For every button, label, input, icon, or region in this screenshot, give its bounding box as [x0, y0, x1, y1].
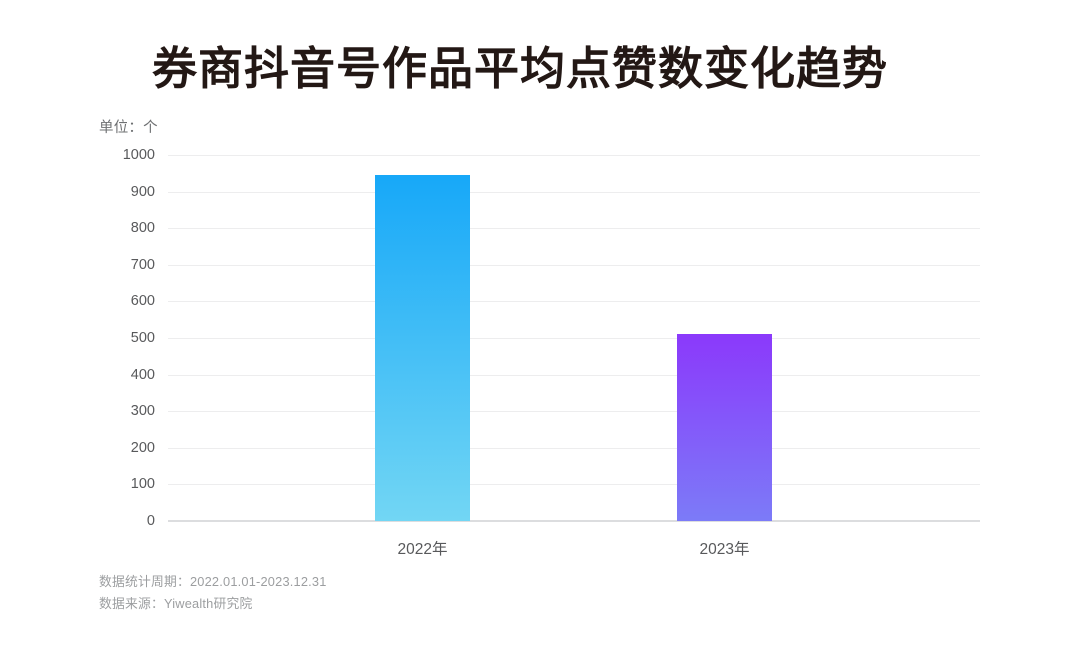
y-axis-tick-label: 600: [99, 294, 155, 309]
chart-footnotes: 数据统计周期：2022.01.01-2023.12.31 数据来源：Yiweal…: [99, 571, 327, 615]
y-axis-tick-label: 900: [99, 185, 155, 200]
footnote-period: 数据统计周期：2022.01.01-2023.12.31: [99, 571, 327, 593]
gridline: [168, 448, 980, 449]
y-axis-tick-label: 700: [99, 258, 155, 273]
gridline: [168, 192, 980, 193]
bar-2022年[interactable]: [375, 175, 470, 521]
gridline: [168, 484, 980, 485]
footnote-source: 数据来源：Yiwealth研究院: [99, 593, 327, 615]
gridline: [168, 228, 980, 229]
unit-label: 单位：个: [99, 116, 158, 137]
x-axis: 2022年2023年: [168, 521, 980, 561]
y-axis-tick-label: 400: [99, 368, 155, 383]
gridline: [168, 411, 980, 412]
gridline: [168, 155, 980, 156]
y-axis-tick-label: 100: [99, 477, 155, 492]
y-axis-tick-label: 300: [99, 404, 155, 419]
chart-card: 券商抖音号作品平均点赞数变化趋势 单位：个 100090080070060050…: [0, 0, 1081, 657]
gridline: [168, 338, 980, 339]
gridline: [168, 301, 980, 302]
y-axis-tick-label: 200: [99, 441, 155, 456]
plot-area: 10009008007006005004003002001000: [168, 155, 980, 521]
x-axis-tick-label: 2023年: [645, 537, 805, 559]
y-axis-tick-label: 0: [99, 514, 155, 529]
gridline: [168, 265, 980, 266]
y-axis-tick-label: 800: [99, 221, 155, 236]
bar-2023年[interactable]: [677, 334, 772, 521]
page-title: 券商抖音号作品平均点赞数变化趋势: [152, 42, 888, 96]
gridline: [168, 375, 980, 376]
y-axis-tick-label: 500: [99, 331, 155, 346]
y-axis-tick-label: 1000: [99, 148, 155, 163]
x-axis-tick-label: 2022年: [343, 537, 503, 559]
